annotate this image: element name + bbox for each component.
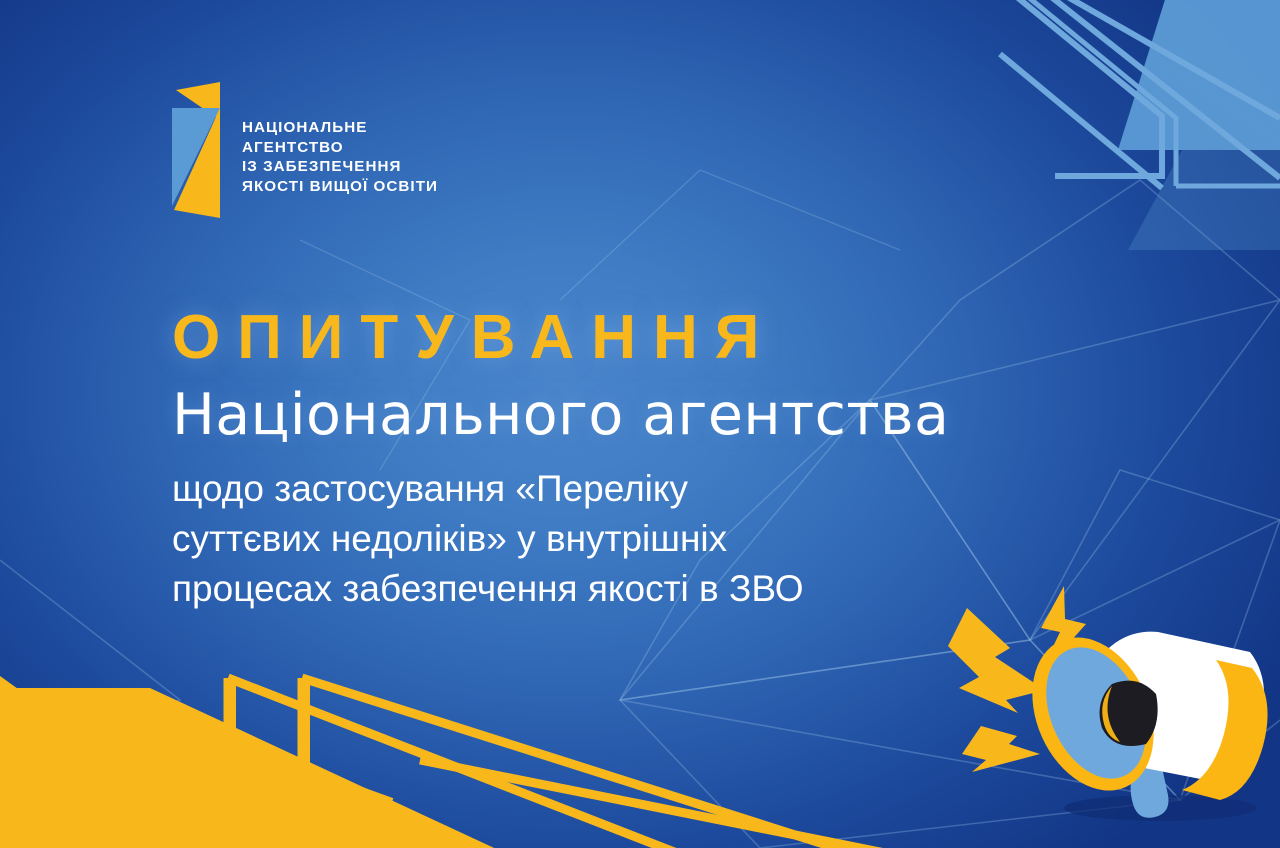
megaphone-inner	[1027, 632, 1165, 795]
megaphone-mouth	[1100, 681, 1158, 746]
organization-name: НАЦІОНАЛЬНЕ АГЕНТСТВО ІЗ ЗАБЕЗПЕЧЕННЯ ЯК…	[242, 118, 438, 196]
poster-canvas: НАЦІОНАЛЬНЕ АГЕНТСТВО ІЗ ЗАБЕЗПЕЧЕННЯ ЯК…	[0, 0, 1280, 848]
description-line-2: суттєвих недоліків» у внутрішніх	[172, 514, 1002, 564]
megaphone-handle	[1131, 742, 1169, 818]
logo-line-1: НАЦІОНАЛЬНЕ	[242, 118, 438, 138]
description-line-1: щодо застосування «Переліку	[172, 464, 1002, 514]
description-line-3: процесах забезпечення якості в ЗВО	[172, 564, 1002, 614]
megaphone-body	[1090, 632, 1264, 782]
headline-block: ОПИТУВАННЯ Національного агентства щодо …	[172, 300, 1032, 614]
megaphone-rim	[1009, 618, 1176, 810]
megaphone-shadow	[1064, 795, 1256, 821]
nazyavo-emblem-icon	[168, 78, 228, 223]
logo-line-3: ІЗ ЗАБЕЗПЕЧЕННЯ	[242, 157, 438, 177]
poster-description: щодо застосування «Переліку суттєвих нед…	[172, 464, 1002, 614]
megaphone-mouth-highlight	[1102, 686, 1120, 742]
logo-line-2: АГЕНТСТВО	[242, 138, 438, 158]
poster-subtitle: Національного агентства	[172, 382, 1032, 448]
poster-kicker: ОПИТУВАННЯ	[172, 300, 1032, 376]
logo-line-4: ЯКОСТІ ВИЩОЇ ОСВІТИ	[242, 177, 438, 197]
megaphone-back-cap	[1182, 660, 1268, 800]
organization-logo: НАЦІОНАЛЬНЕ АГЕНТСТВО ІЗ ЗАБЕЗПЕЧЕННЯ ЯК…	[168, 78, 438, 223]
